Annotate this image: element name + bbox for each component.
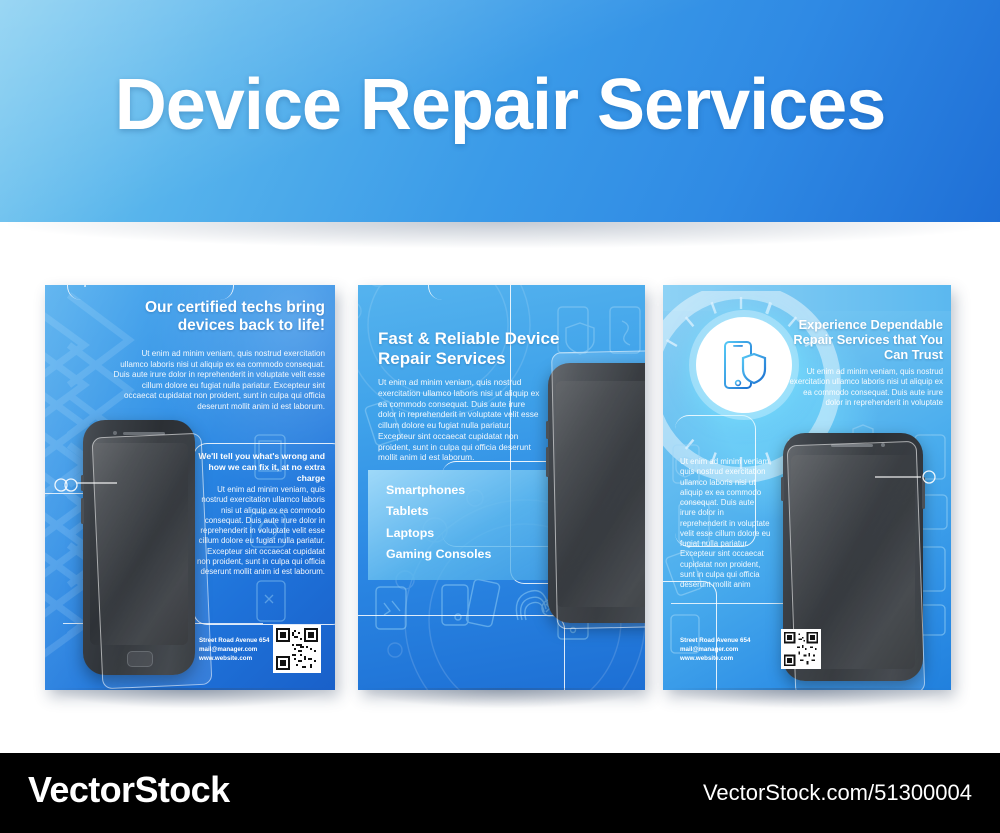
panel-1-body-text-2: Ut enim ad minim veniam, quis nostrud ex…	[197, 485, 325, 577]
panel-1-shadow	[50, 688, 330, 708]
film-callout-icon	[45, 470, 121, 500]
vectorstock-url: VectorStock.com/51300004	[703, 780, 972, 806]
panel-3-website: www.website.com	[680, 655, 790, 664]
brochure-panel-2[interactable]: Fast & Reliable Device Repair Services U…	[358, 285, 645, 690]
panel-1-top-outline	[67, 285, 234, 300]
panel-2-headline: Fast & Reliable Device Repair Services	[378, 329, 568, 369]
film-callout-icon	[875, 465, 951, 495]
panel-3-headline: Experience Dependable Repair Services th…	[771, 317, 943, 362]
panel-2-bottom-outline	[358, 615, 565, 690]
panel-3-shadow	[667, 688, 947, 708]
panel-3-body-text-2: Ut enim ad minim veniam, quis nostrud ex…	[680, 457, 772, 590]
qr-code[interactable]	[781, 629, 821, 669]
panel-3-footer-outline	[663, 581, 717, 690]
service-item[interactable]: Tablets	[386, 501, 561, 522]
screenshot-root: Device Repair Services	[0, 0, 1000, 833]
panel-2-shadow	[362, 688, 642, 708]
vectorstock-logo: VectorStock	[28, 769, 230, 811]
service-item[interactable]: Laptops	[386, 523, 561, 544]
service-item[interactable]: Gaming Consoles	[386, 544, 561, 565]
banner-drop-shadow	[8, 222, 992, 248]
panel-1-subheadline: We'll tell you what's wrong and how we c…	[197, 451, 325, 485]
panel-3-email: mail@manager.com	[680, 646, 790, 655]
header-banner: Device Repair Services	[0, 0, 1000, 222]
panel-3-body-text: Ut enim ad minim veniam, quis nostrud ex…	[787, 367, 943, 408]
page-title: Device Repair Services	[0, 64, 1000, 146]
brochure-panels: Our certified techs bring devices back t…	[0, 285, 1000, 690]
services-list: Smartphones Tablets Laptops Gaming Conso…	[386, 480, 561, 565]
panel-1-body-text: Ut enim ad minim veniam, quis nostrud ex…	[113, 349, 325, 412]
brochure-panel-1[interactable]: Our certified techs bring devices back t…	[45, 285, 335, 690]
panel-2-body-text: Ut enim ad minim veniam, quis nostrud ex…	[378, 377, 540, 463]
screen-protector-film	[551, 350, 645, 630]
panel-3-address: Street Road Avenue 654	[680, 637, 790, 646]
panel-3-contact: Street Road Avenue 654 mail@manager.com …	[680, 637, 790, 663]
watermark-bar: VectorStock VectorStock.com/51300004	[0, 753, 1000, 833]
panel-1-headline: Our certified techs bring devices back t…	[143, 299, 325, 336]
brochure-panel-3[interactable]: Experience Dependable Repair Services th…	[663, 285, 951, 690]
phone-shield-icon	[716, 337, 772, 393]
qr-code[interactable]	[273, 625, 321, 673]
service-item[interactable]: Smartphones	[386, 480, 561, 501]
